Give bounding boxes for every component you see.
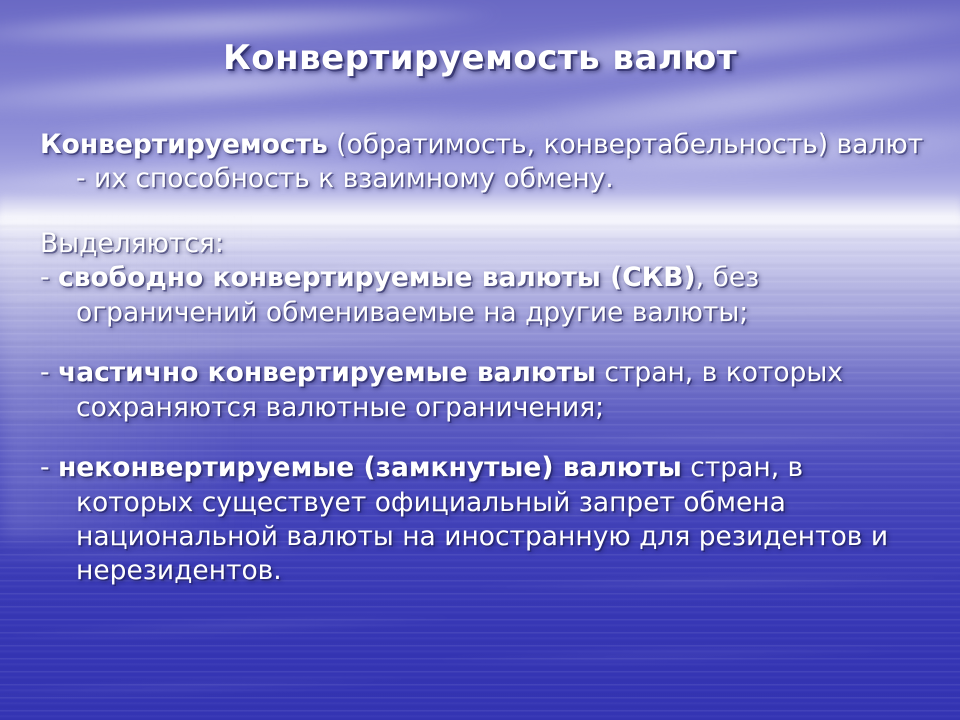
spacer: [40, 197, 924, 227]
list-item: - свободно конвертируемые валюты (СКВ), …: [40, 261, 924, 330]
list-marker: -: [40, 452, 58, 483]
list-item-term: частично конвертируемые валюты: [58, 357, 596, 388]
list-item-term: неконвертируемые (замкнутые) валюты: [58, 452, 682, 483]
slide-title: Конвертируемость валют: [0, 38, 960, 78]
spacer: [40, 425, 924, 451]
list-item: - частично конвертируемые валюты стран, …: [40, 356, 924, 425]
definition-term: Конвертируемость: [40, 129, 328, 160]
list-marker: -: [40, 262, 58, 293]
list-marker: -: [40, 357, 58, 388]
slide-body: Конвертируемость (обратимость, конвертаб…: [40, 128, 924, 589]
definition-paragraph: Конвертируемость (обратимость, конвертаб…: [40, 128, 924, 197]
list-item: - неконвертируемые (замкнутые) валюты ст…: [40, 451, 924, 589]
spacer: [40, 330, 924, 356]
slide-content: Конвертируемость валют Конвертируемость …: [0, 0, 960, 720]
list-item-term: свободно конвертируемые валюты (СКВ): [58, 262, 696, 293]
presentation-slide: Конвертируемость валют Конвертируемость …: [0, 0, 960, 720]
list-lead-paragraph: Выделяются:: [40, 227, 924, 261]
